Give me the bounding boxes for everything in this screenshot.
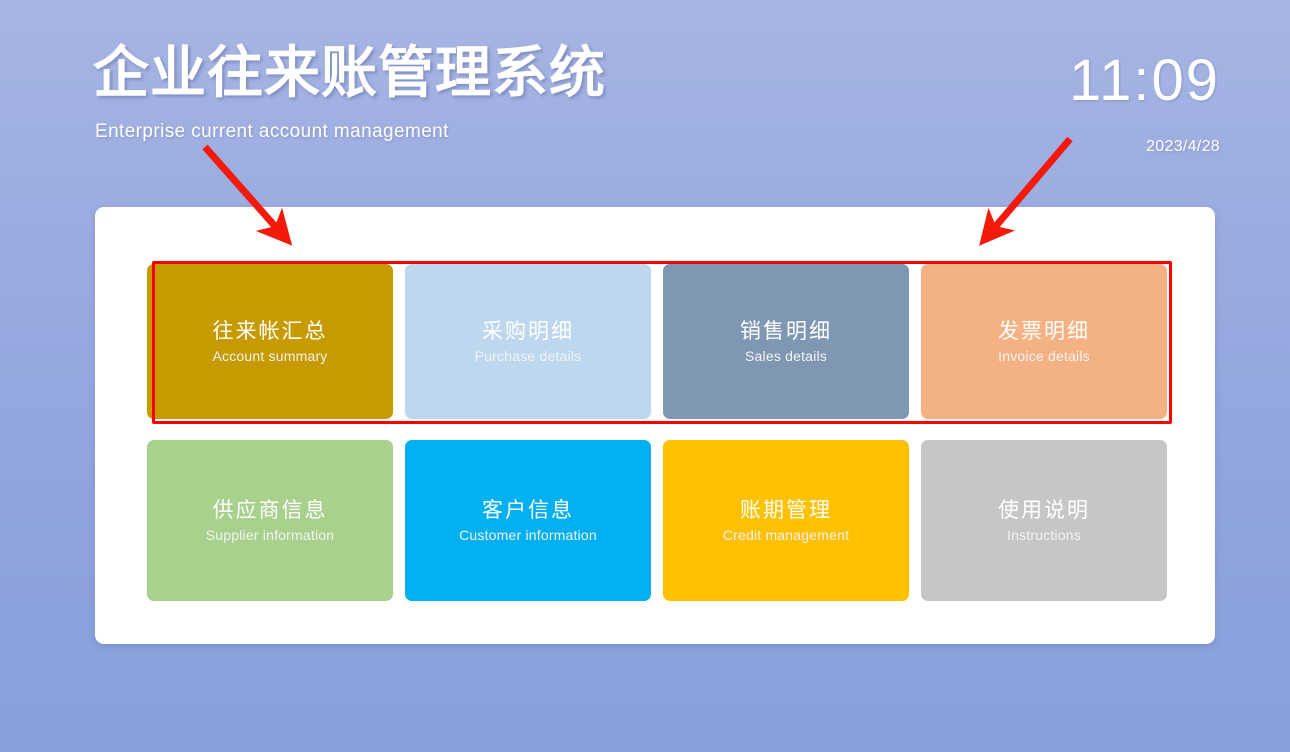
menu-tile-label-cn: 客户信息: [482, 498, 574, 524]
menu-tile-1[interactable]: 往来帐汇总Account summary: [147, 264, 393, 419]
menu-tile-label-en: Invoice details: [998, 348, 1090, 364]
menu-tile-3[interactable]: 销售明细Sales details: [663, 264, 909, 419]
menu-tile-4[interactable]: 发票明细Invoice details: [921, 264, 1167, 419]
app-screen: 企业往来账管理系统 Enterprise current account man…: [0, 0, 1290, 752]
menu-tile-5[interactable]: 供应商信息Supplier information: [147, 440, 393, 601]
menu-tile-label-en: Customer information: [459, 527, 597, 543]
menu-tile-grid: 往来帐汇总Account summary采购明细Purchase details…: [147, 264, 1168, 601]
menu-tile-label-en: Purchase details: [475, 348, 582, 364]
menu-tile-label-cn: 销售明细: [740, 319, 832, 345]
menu-tile-label-en: Account summary: [212, 348, 327, 364]
menu-tile-label-cn: 采购明细: [482, 319, 574, 345]
menu-tile-label-en: Instructions: [1007, 527, 1081, 543]
menu-tile-2[interactable]: 采购明细Purchase details: [405, 264, 651, 419]
clock-time: 11:09: [1069, 52, 1220, 110]
menu-tile-label-cn: 往来帐汇总: [213, 319, 328, 345]
menu-tile-7[interactable]: 账期管理Credit management: [663, 440, 909, 601]
page-subtitle: Enterprise current account management: [95, 121, 449, 143]
menu-tile-label-cn: 使用说明: [998, 498, 1090, 524]
clock-date: 2023/4/28: [1146, 138, 1220, 156]
menu-tile-label-en: Credit management: [723, 527, 849, 543]
menu-tile-label-cn: 发票明细: [998, 319, 1090, 345]
menu-tile-8[interactable]: 使用说明Instructions: [921, 440, 1167, 601]
menu-tile-label-en: Supplier information: [206, 527, 335, 543]
menu-tile-label-en: Sales details: [745, 348, 827, 364]
menu-tile-label-cn: 供应商信息: [213, 498, 328, 524]
menu-tile-6[interactable]: 客户信息Customer information: [405, 440, 651, 601]
page-title: 企业往来账管理系统: [93, 44, 606, 102]
menu-tile-label-cn: 账期管理: [740, 498, 832, 524]
